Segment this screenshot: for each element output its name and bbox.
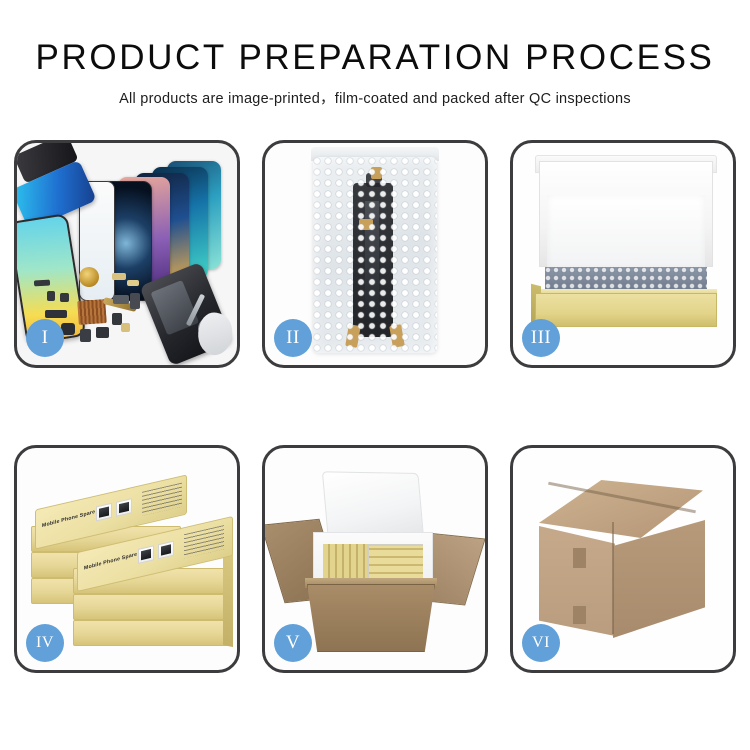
box-label-phone-image bbox=[96, 503, 112, 522]
box-stack-side-icon bbox=[223, 551, 233, 647]
process-step-panel-2: II bbox=[262, 140, 488, 368]
step-badge-3: III bbox=[522, 319, 560, 357]
carton-tape-icon bbox=[573, 548, 586, 568]
process-step-grid: I II bbox=[14, 140, 736, 673]
process-step-panel-6: VI bbox=[510, 445, 736, 673]
small-part-icon bbox=[34, 280, 50, 287]
kraft-box-front-icon bbox=[535, 293, 717, 327]
box-label-spec-lines bbox=[184, 525, 224, 558]
stacked-box-icon bbox=[73, 620, 231, 646]
small-part-icon bbox=[96, 327, 109, 338]
process-step-panel-4: Mobile Phone Spare Parts Mobile Phone Sp… bbox=[14, 445, 240, 673]
step-badge-2: II bbox=[274, 319, 312, 357]
carton-edge-icon bbox=[612, 522, 614, 634]
box-label-phone-image bbox=[158, 541, 174, 560]
stacked-box-icon bbox=[73, 594, 231, 620]
foam-sheet-icon bbox=[547, 195, 705, 269]
process-step-panel-5: V bbox=[262, 445, 488, 673]
small-part-icon bbox=[60, 293, 69, 302]
step-badge-6: VI bbox=[522, 624, 560, 662]
box-label-spec-lines bbox=[142, 483, 182, 516]
bubble-wrap-bag-icon bbox=[313, 157, 437, 353]
step-badge-1: I bbox=[26, 319, 64, 357]
header: PRODUCT PREPARATION PROCESS All products… bbox=[0, 0, 750, 108]
small-part-icon bbox=[130, 293, 140, 309]
page-title: PRODUCT PREPARATION PROCESS bbox=[0, 38, 750, 78]
page-subtitle: All products are image-printed，film-coat… bbox=[0, 87, 750, 108]
small-part-icon bbox=[80, 329, 91, 342]
small-part-icon bbox=[121, 323, 130, 332]
circuit-chip-icon bbox=[77, 299, 107, 325]
step-badge-5: V bbox=[274, 624, 312, 662]
step-badge-4: IV bbox=[26, 624, 64, 662]
foam-box-lid-icon bbox=[322, 471, 424, 538]
speaker-module-icon bbox=[79, 267, 99, 287]
small-part-icon bbox=[112, 273, 126, 280]
small-part-icon bbox=[127, 280, 139, 286]
carton-tape-icon bbox=[573, 606, 586, 624]
product-preparation-infographic: PRODUCT PREPARATION PROCESS All products… bbox=[0, 0, 750, 750]
small-part-icon bbox=[47, 291, 55, 301]
process-step-panel-3: III bbox=[510, 140, 736, 368]
small-part-icon bbox=[113, 295, 129, 304]
small-part-icon bbox=[45, 310, 67, 318]
carton-body-icon bbox=[307, 584, 435, 652]
carton-side-icon bbox=[613, 520, 705, 638]
bubble-texture-icon bbox=[313, 157, 437, 353]
box-label-phone-image bbox=[116, 498, 132, 517]
box-label-phone-image bbox=[138, 545, 154, 564]
process-step-panel-1: I bbox=[14, 140, 240, 368]
